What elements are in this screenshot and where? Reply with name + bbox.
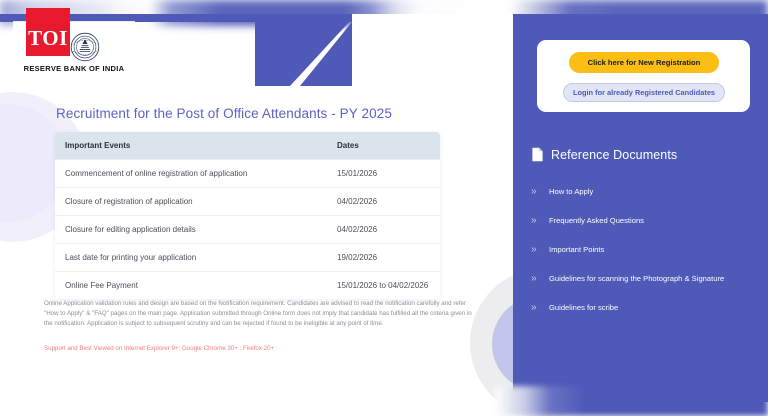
toi-logo-mark: TOI (26, 8, 70, 56)
application-page: TOI RESERVE BANK OF INDIA Recruitment fo… (0, 0, 768, 416)
table-row: Commencement of online registration of a… (55, 160, 440, 188)
right-panel: Click here for New Registration Login fo… (513, 14, 768, 402)
rbi-bank-name: RESERVE BANK OF INDIA (14, 64, 134, 73)
column-header-dates: Dates (327, 132, 440, 160)
cell-date: 15/01/2026 to 04/02/2026 (327, 272, 440, 300)
panel-bottom-fade (495, 386, 768, 416)
cell-event: Last date for printing your application (55, 244, 327, 272)
double-chevron-right-icon: » (531, 274, 541, 284)
double-chevron-right-icon: » (531, 216, 541, 226)
cell-event: Closure of registration of application (55, 188, 327, 216)
reference-item-label: Important Points (549, 245, 604, 254)
cell-event: Commencement of online registration of a… (55, 160, 327, 188)
disclaimer-text: Online Application validation rules and … (44, 299, 480, 329)
reference-item-label: Frequently Asked Questions (549, 216, 644, 225)
table-row: Last date for printing your application … (55, 244, 440, 272)
table-row: Closure of registration of application 0… (55, 188, 440, 216)
login-registered-button[interactable]: Login for already Registered Candidates (563, 83, 725, 102)
table-body: Commencement of online registration of a… (55, 160, 440, 300)
reference-item-faq[interactable]: » Frequently Asked Questions (531, 206, 763, 235)
column-header-events: Important Events (55, 132, 327, 160)
reference-documents-title: Reference Documents (551, 148, 677, 162)
double-chevron-right-icon: » (531, 245, 541, 255)
double-chevron-right-icon: » (531, 303, 541, 313)
toi-logo-text: TOI (28, 28, 68, 56)
reference-item-important-points[interactable]: » Important Points (531, 235, 763, 264)
reference-item-label: Guidelines for scanning the Photograph &… (549, 274, 724, 283)
reference-item-how-to-apply[interactable]: » How to Apply (531, 177, 763, 206)
reference-item-label: Guidelines for scribe (549, 303, 618, 312)
reference-item-label: How to Apply (549, 187, 593, 196)
document-icon (531, 147, 544, 162)
cell-event: Closure for editing application details (55, 216, 327, 244)
reference-item-scribe-guidelines[interactable]: » Guidelines for scribe (531, 293, 763, 322)
new-registration-button[interactable]: Click here for New Registration (569, 52, 719, 73)
reference-item-photo-signature-guidelines[interactable]: » Guidelines for scanning the Photograph… (531, 264, 763, 293)
cell-date: 15/01/2026 (327, 160, 440, 188)
cell-date: 04/02/2026 (327, 216, 440, 244)
cell-date: 04/02/2026 (327, 188, 440, 216)
browser-support-text: Support and Best Viewed on Internet Expl… (44, 345, 480, 354)
table-row: Closure for editing application details … (55, 216, 440, 244)
cell-date: 19/02/2026 (327, 244, 440, 272)
rbi-emblem-icon (70, 32, 100, 62)
page-title: Recruitment for the Post of Office Atten… (56, 106, 392, 121)
header-white-notch (352, 14, 514, 86)
main-content: Recruitment for the Post of Office Atten… (0, 86, 513, 416)
table-header-row: Important Events Dates (55, 132, 440, 160)
cell-event: Online Fee Payment (55, 272, 327, 300)
table-head: Important Events Dates (55, 132, 440, 160)
rbi-logo-card: TOI RESERVE BANK OF INDIA (14, 22, 134, 80)
reference-documents-list: » How to Apply » Frequently Asked Questi… (531, 177, 763, 322)
table-row: Online Fee Payment 15/01/2026 to 04/02/2… (55, 272, 440, 300)
reference-documents-heading: Reference Documents (531, 147, 677, 162)
auth-card: Click here for New Registration Login fo… (537, 40, 750, 112)
double-chevron-right-icon: » (531, 187, 541, 197)
important-events-table: Important Events Dates Commencement of o… (55, 132, 440, 299)
